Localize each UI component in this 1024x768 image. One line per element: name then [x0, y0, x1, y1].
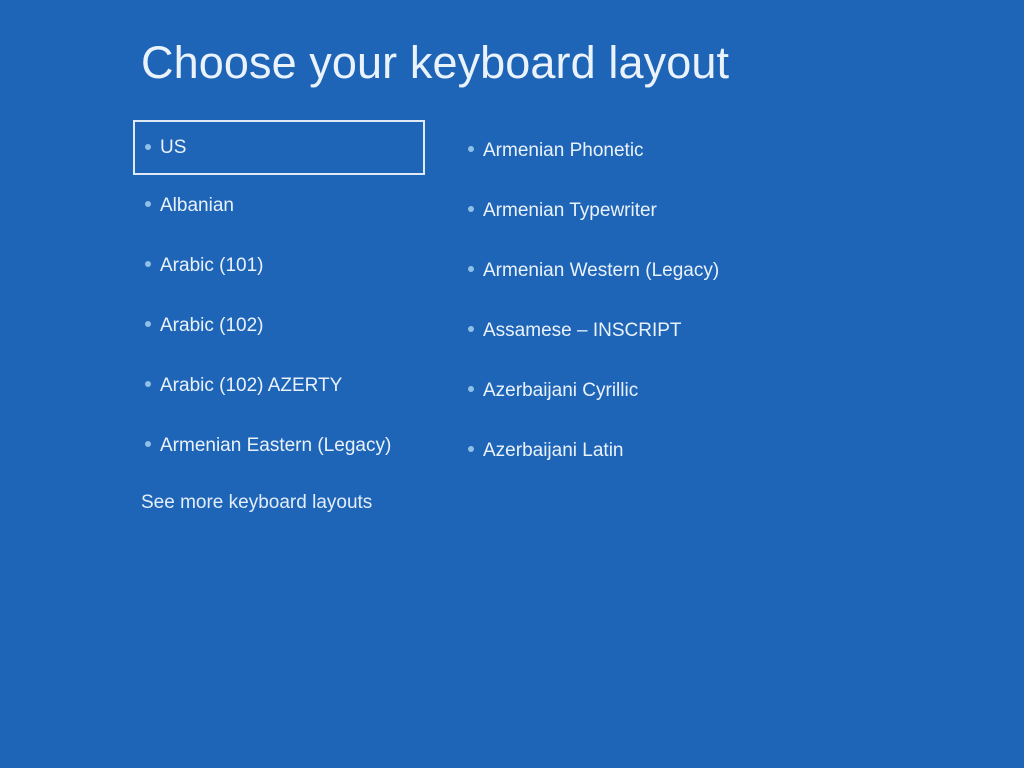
- bullet-icon: [145, 261, 151, 267]
- layout-option-us[interactable]: US: [133, 120, 425, 175]
- layout-option-albanian[interactable]: Albanian: [133, 175, 433, 235]
- bullet-icon: [145, 441, 151, 447]
- layout-option-armenian-typewriter[interactable]: Armenian Typewriter: [460, 180, 790, 240]
- see-more-keyboard-layouts-link[interactable]: See more keyboard layouts: [141, 493, 372, 512]
- layout-option-label: Arabic (101): [160, 256, 264, 275]
- layout-option-label: Armenian Eastern (Legacy): [160, 436, 391, 455]
- keyboard-layout-screen: Choose your keyboard layout US Albanian …: [0, 0, 1024, 768]
- bullet-icon: [468, 446, 474, 452]
- layout-option-label: Assamese – INSCRIPT: [483, 321, 682, 340]
- bullet-icon: [468, 206, 474, 212]
- layout-option-azerbaijani-cyrillic[interactable]: Azerbaijani Cyrillic: [460, 360, 790, 420]
- bullet-icon: [468, 326, 474, 332]
- layout-option-azerbaijani-latin[interactable]: Azerbaijani Latin: [460, 420, 790, 480]
- bullet-icon: [145, 144, 151, 150]
- bullet-icon: [468, 146, 474, 152]
- layout-option-armenian-eastern-legacy[interactable]: Armenian Eastern (Legacy): [133, 415, 433, 475]
- bullet-icon: [145, 321, 151, 327]
- layout-option-label: US: [160, 138, 186, 157]
- layout-option-armenian-western-legacy[interactable]: Armenian Western (Legacy): [460, 240, 790, 300]
- layout-option-label: Azerbaijani Latin: [483, 441, 623, 460]
- bullet-icon: [145, 201, 151, 207]
- layout-option-arabic-101[interactable]: Arabic (101): [133, 235, 433, 295]
- layout-option-armenian-phonetic[interactable]: Armenian Phonetic: [460, 120, 790, 180]
- layout-option-label: Azerbaijani Cyrillic: [483, 381, 638, 400]
- layout-option-label: Arabic (102): [160, 316, 264, 335]
- layout-option-assamese-inscript[interactable]: Assamese – INSCRIPT: [460, 300, 790, 360]
- keyboard-layout-column-left: US Albanian Arabic (101) Arabic (102) Ar…: [133, 120, 433, 475]
- layout-option-label: Armenian Phonetic: [483, 141, 644, 160]
- bullet-icon: [145, 381, 151, 387]
- layout-option-arabic-102-azerty[interactable]: Arabic (102) AZERTY: [133, 355, 433, 415]
- keyboard-layout-column-right: Armenian Phonetic Armenian Typewriter Ar…: [460, 120, 790, 480]
- layout-option-arabic-102[interactable]: Arabic (102): [133, 295, 433, 355]
- bullet-icon: [468, 266, 474, 272]
- layout-option-label: Armenian Western (Legacy): [483, 261, 719, 280]
- layout-option-label: Albanian: [160, 196, 234, 215]
- layout-option-label: Armenian Typewriter: [483, 201, 657, 220]
- keyboard-layout-list: US Albanian Arabic (101) Arabic (102) Ar…: [0, 0, 1024, 768]
- bullet-icon: [468, 386, 474, 392]
- layout-option-label: Arabic (102) AZERTY: [160, 376, 342, 395]
